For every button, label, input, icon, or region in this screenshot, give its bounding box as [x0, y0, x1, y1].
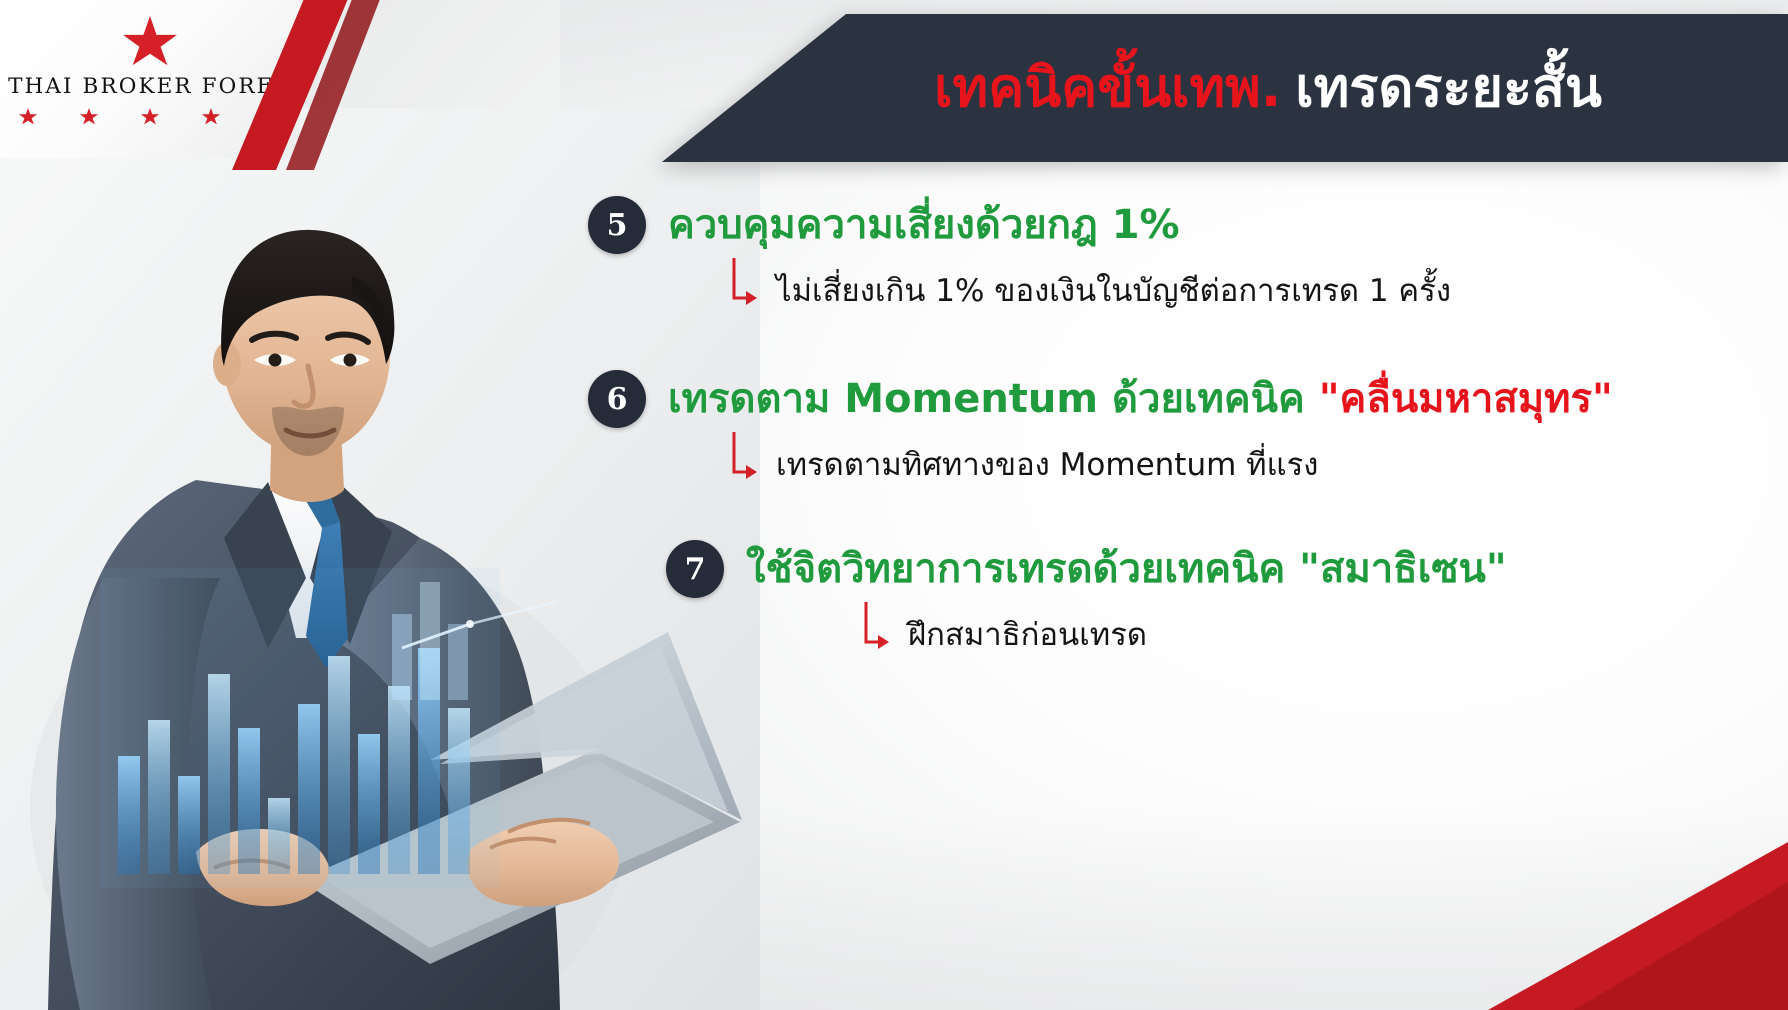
header-title-white: เทรดระยะสั้น — [1295, 61, 1602, 115]
brand-logo-card: THAI BROKER FOREX — [0, 0, 300, 158]
tip-number-badge: 7 — [666, 540, 724, 598]
arrow-hook-icon — [730, 432, 764, 484]
footer-red-wedge — [1368, 820, 1788, 1010]
star-icon — [263, 108, 282, 126]
star-icon — [122, 16, 178, 70]
tip-heading-row: 7 ใช้จิตวิทยาการเทรดด้วยเทคนิค "สมาธิเซน… — [582, 540, 1788, 598]
tip-sub-text: ฝึกสมาธิก่อนเทรด — [908, 617, 1147, 654]
tip-heading: เทรดตาม Momentum ด้วยเทคนิค "คลื่นมหาสมุ… — [668, 377, 1613, 422]
spacer — [582, 310, 1788, 370]
tip-heading: ควบคุมความเสี่ยงด้วยกฎ 1% — [668, 203, 1180, 248]
tip-heading-main: ควบคุมความเสี่ยงด้วยกฎ 1% — [668, 202, 1180, 248]
tip-heading-row: 6 เทรดตาม Momentum ด้วยเทคนิค "คลื่นมหาส… — [582, 370, 1788, 428]
arrow-hook-icon — [730, 258, 764, 310]
tip-sub-row: ฝึกสมาธิก่อนเทรด — [582, 602, 1788, 654]
star-icon — [19, 108, 38, 126]
header-title: เทคนิคขั้นเทพ. เทรดระยะสั้น — [600, 14, 1736, 162]
tip-sub-text: เทรดตามทิศทางของ Momentum ที่แรง — [776, 447, 1318, 484]
tip-number-badge: 6 — [588, 370, 646, 428]
brand-star-row — [0, 108, 300, 126]
star-icon — [80, 108, 99, 126]
list-item: 7 ใช้จิตวิทยาการเทรดด้วยเทคนิค "สมาธิเซน… — [582, 540, 1788, 654]
infographic-canvas: THAI BROKER FOREX เทคนิคขั้นเทพ. เทรดระย… — [0, 0, 1788, 1010]
tip-number-badge: 5 — [588, 196, 646, 254]
list-item: 5 ควบคุมความเสี่ยงด้วยกฎ 1% ไม่เสี่ยงเกิ… — [582, 196, 1788, 310]
header-ribbon: เทคนิคขั้นเทพ. เทรดระยะสั้น — [600, 14, 1788, 162]
arrow-hook-icon — [862, 602, 896, 654]
tip-heading-accent: "คลื่นมหาสมุทร" — [1319, 376, 1613, 422]
spacer — [582, 484, 1788, 540]
tip-heading-row: 5 ควบคุมความเสี่ยงด้วยกฎ 1% — [582, 196, 1788, 254]
header-title-red: เทคนิคขั้นเทพ. — [934, 61, 1281, 115]
tip-heading-main: ใช้จิตวิทยาการเทรดด้วยเทคนิค "สมาธิเซน" — [746, 546, 1507, 592]
star-icon — [202, 108, 221, 126]
tip-heading: ใช้จิตวิทยาการเทรดด้วยเทคนิค "สมาธิเซน" — [746, 547, 1507, 592]
tip-heading-main: เทรดตาม Momentum ด้วยเทคนิค — [668, 376, 1319, 422]
star-icon — [141, 108, 160, 126]
tip-sub-row: ไม่เสี่ยงเกิน 1% ของเงินในบัญชีต่อการเทร… — [582, 258, 1788, 310]
tip-sub-text: ไม่เสี่ยงเกิน 1% ของเงินในบัญชีต่อการเทร… — [776, 273, 1451, 310]
brand-name: THAI BROKER FOREX — [0, 74, 300, 99]
tip-sub-row: เทรดตามทิศทางของ Momentum ที่แรง — [582, 432, 1788, 484]
tips-list: 5 ควบคุมความเสี่ยงด้วยกฎ 1% ไม่เสี่ยงเกิ… — [582, 196, 1788, 654]
list-item: 6 เทรดตาม Momentum ด้วยเทคนิค "คลื่นมหาส… — [582, 370, 1788, 484]
